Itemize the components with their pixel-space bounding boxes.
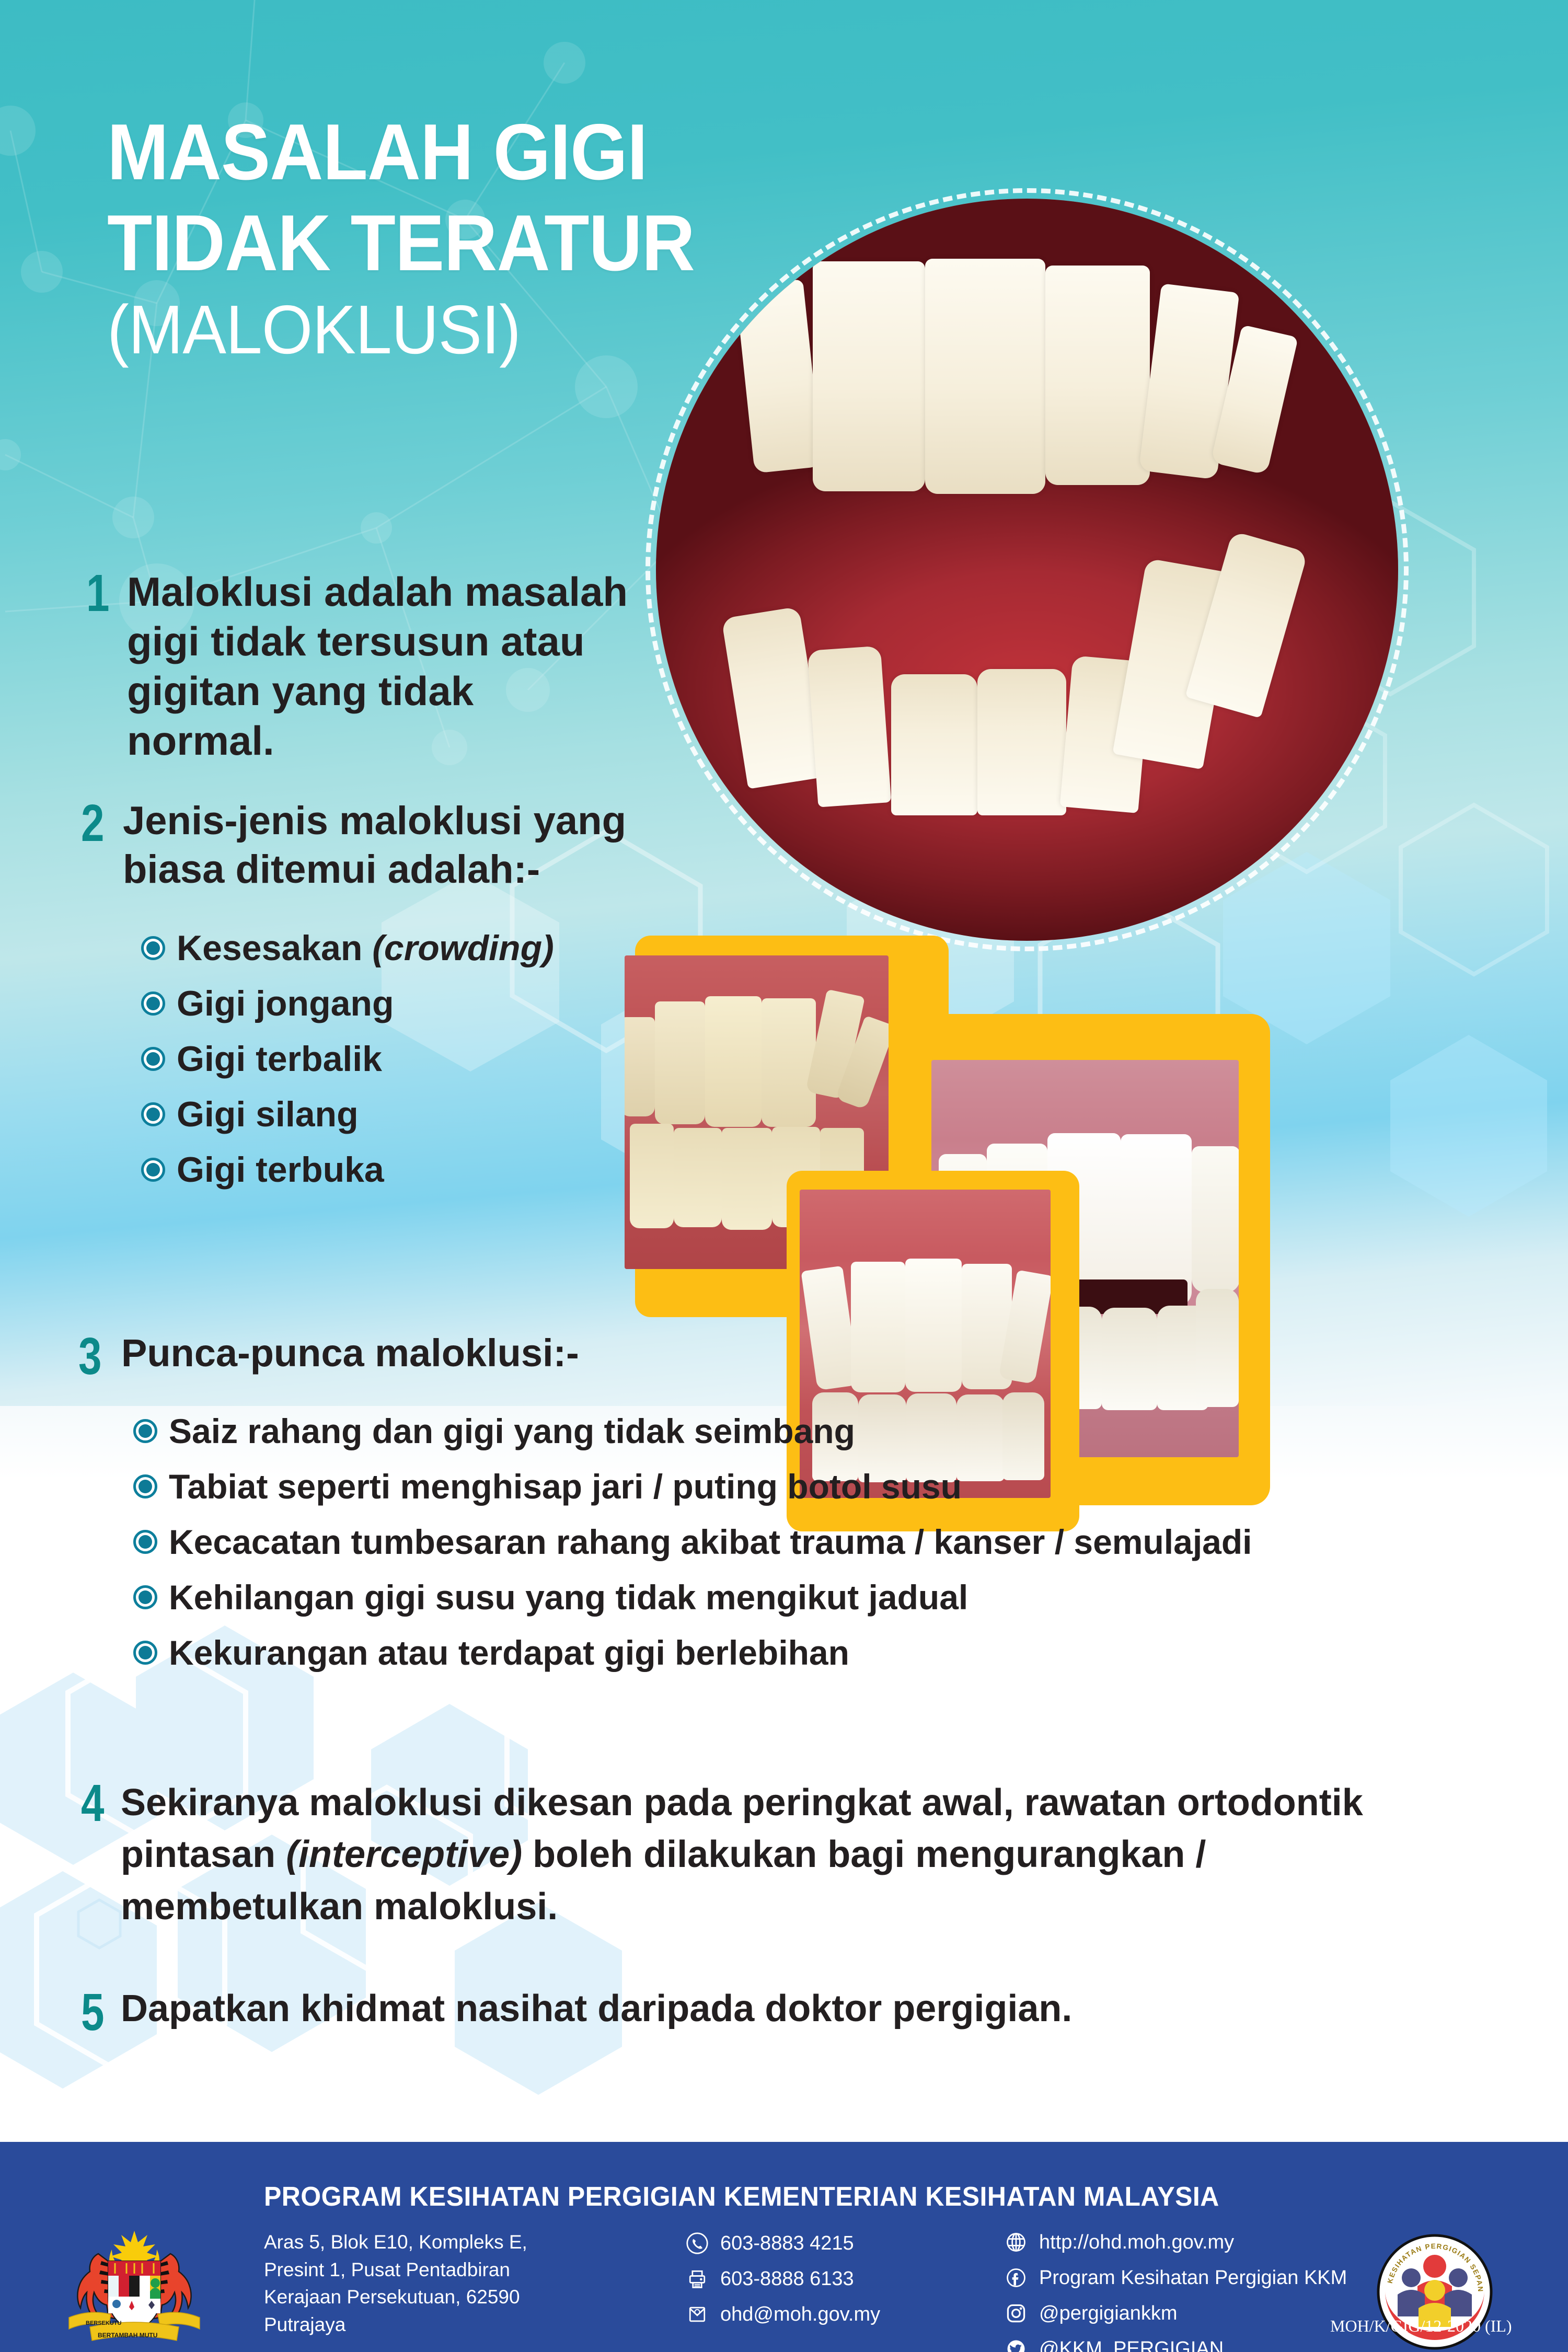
bullet-dot-icon	[141, 1047, 165, 1071]
contact-fax[interactable]: 603-8888 6133	[685, 2266, 880, 2291]
footer-address: Aras 5, Blok E10, Kompleks E, Presint 1,…	[264, 2229, 588, 2338]
section-5-text: Dapatkan khidmat nasihat daripada doktor…	[121, 1986, 1072, 2031]
bullet-dot-icon	[133, 1585, 157, 1609]
malocclusion-types-list: Kesesakan (crowding) Gigi jongang Gigi t…	[141, 928, 554, 1205]
list-item: Kehilangan gigi susu yang tidak mengikut…	[133, 1577, 1252, 1617]
social-twitter[interactable]: @KKM_PERGIGIAN	[1004, 2336, 1347, 2352]
bullet-dot-icon	[133, 1419, 157, 1443]
section-1-number: 1	[86, 567, 116, 619]
section-5-number: 5	[81, 1986, 109, 2038]
poster-root: MASALAH GIGI TIDAK TERATUR (MALOKLUSI) 1…	[0, 0, 1568, 2352]
list-item: Gigi jongang	[141, 983, 554, 1024]
list-item: Tabiat seperti menghisap jari / puting b…	[133, 1467, 1252, 1506]
section-2: 2 Jenis-jenis maloklusi yang biasa ditem…	[81, 797, 666, 894]
cause-label: Saiz rahang dan gigi yang tidak seimbang	[169, 1411, 855, 1451]
section-4-text: Sekiranya maloklusi dikesan pada peringk…	[121, 1777, 1427, 1933]
social-instagram[interactable]: @pergigiankkm	[1004, 2301, 1347, 2326]
coat-of-arms-motto-2: BERTAMBAH MUTU	[98, 2332, 157, 2339]
globe-icon	[1004, 2230, 1029, 2255]
instagram-icon	[1004, 2301, 1029, 2326]
list-item: Kekurangan atau terdapat gigi berlebihan	[133, 1633, 1252, 1673]
type-label: Gigi jongang	[177, 983, 394, 1024]
page-title: MASALAH GIGI TIDAK TERATUR (MALOKLUSI)	[107, 112, 943, 364]
malaysia-coat-of-arms-icon: BERSEKUTU BERTAMBAH MUTU	[48, 2224, 221, 2350]
coat-of-arms-motto-1: BERSEKUTU	[86, 2320, 122, 2326]
bullet-dot-icon	[141, 991, 165, 1016]
phone-number: 603-8883 4215	[720, 2232, 854, 2255]
footer-social-list: http://ohd.moh.gov.my Program Kesihatan …	[1004, 2230, 1347, 2352]
footer-organisation-title: PROGRAM KESIHATAN PERGIGIAN KEMENTERIAN …	[264, 2181, 1219, 2212]
instagram-handle: @pergigiankkm	[1039, 2302, 1178, 2325]
title-line-3: (MALOKLUSI)	[107, 295, 902, 364]
section-1-text: Maloklusi adalah masalah gigi tidak ters…	[127, 567, 629, 766]
footer-contact-list: 603-8883 4215 603-8888 6133 ohd@moh.gov.…	[685, 2231, 880, 2337]
list-item: Kecacatan tumbesaran rahang akibat traum…	[133, 1522, 1252, 1562]
cause-label: Tabiat seperti menghisap jari / puting b…	[169, 1467, 962, 1506]
twitter-handle: @KKM_PERGIGIAN	[1039, 2338, 1224, 2352]
list-item: Saiz rahang dan gigi yang tidak seimbang	[133, 1411, 1252, 1451]
type-label: Kesesakan (crowding)	[177, 928, 554, 969]
reference-code: MOH/K/GIG/12-2020 (IL)	[1330, 2316, 1512, 2336]
cause-label: Kehilangan gigi susu yang tidak mengikut…	[169, 1577, 968, 1617]
section-4-number: 4	[81, 1777, 109, 1829]
section-3-text: Punca-punca maloklusi:-	[121, 1330, 579, 1377]
cause-label: Kekurangan atau terdapat gigi berlebihan	[169, 1633, 849, 1673]
bullet-dot-icon	[141, 1102, 165, 1126]
list-item: Gigi silang	[141, 1094, 554, 1135]
list-item: Kesesakan (crowding)	[141, 928, 554, 969]
social-website[interactable]: http://ohd.moh.gov.my	[1004, 2230, 1347, 2255]
bullet-dot-icon	[133, 1641, 157, 1665]
type-label: Gigi silang	[177, 1094, 359, 1135]
type-label: Gigi terbuka	[177, 1149, 384, 1190]
section-3-number: 3	[78, 1330, 108, 1382]
contact-phone[interactable]: 603-8883 4215	[685, 2231, 880, 2256]
title-line-1: MASALAH GIGI	[107, 112, 885, 192]
email-address: ohd@moh.gov.my	[720, 2303, 880, 2326]
fax-icon	[685, 2266, 710, 2291]
twitter-icon	[1004, 2336, 1029, 2352]
list-item: Gigi terbalik	[141, 1039, 554, 1079]
contact-email[interactable]: ohd@moh.gov.my	[685, 2302, 880, 2327]
bullet-dot-icon	[133, 1530, 157, 1554]
bullet-dot-icon	[141, 1158, 165, 1182]
title-line-2: TIDAK TERATUR	[107, 203, 885, 283]
malocclusion-causes-list: Saiz rahang dan gigi yang tidak seimbang…	[133, 1411, 1252, 1688]
social-facebook[interactable]: Program Kesihatan Pergigian KKM	[1004, 2265, 1347, 2290]
cause-label: Kecacatan tumbesaran rahang akibat traum…	[169, 1522, 1252, 1562]
section-2-text: Jenis-jenis maloklusi yang biasa ditemui…	[123, 797, 645, 894]
type-label: Gigi terbalik	[177, 1039, 382, 1079]
facebook-page: Program Kesihatan Pergigian KKM	[1039, 2267, 1347, 2289]
section-3: 3 Punca-punca maloklusi:-	[78, 1330, 706, 1382]
phone-icon	[685, 2231, 710, 2256]
section-2-number: 2	[81, 797, 110, 849]
email-icon	[685, 2302, 710, 2327]
list-item: Gigi terbuka	[141, 1149, 554, 1190]
bullet-dot-icon	[133, 1474, 157, 1498]
section-1: 1 Maloklusi adalah masalah gigi tidak te…	[86, 567, 645, 766]
bullet-dot-icon	[141, 936, 165, 960]
facebook-icon	[1004, 2265, 1029, 2290]
section-5: 5 Dapatkan khidmat nasihat daripada dokt…	[81, 1986, 1466, 2038]
website-url: http://ohd.moh.gov.my	[1039, 2231, 1234, 2254]
fax-number: 603-8888 6133	[720, 2268, 854, 2290]
section-4: 4 Sekiranya maloklusi dikesan pada perin…	[81, 1777, 1466, 1933]
